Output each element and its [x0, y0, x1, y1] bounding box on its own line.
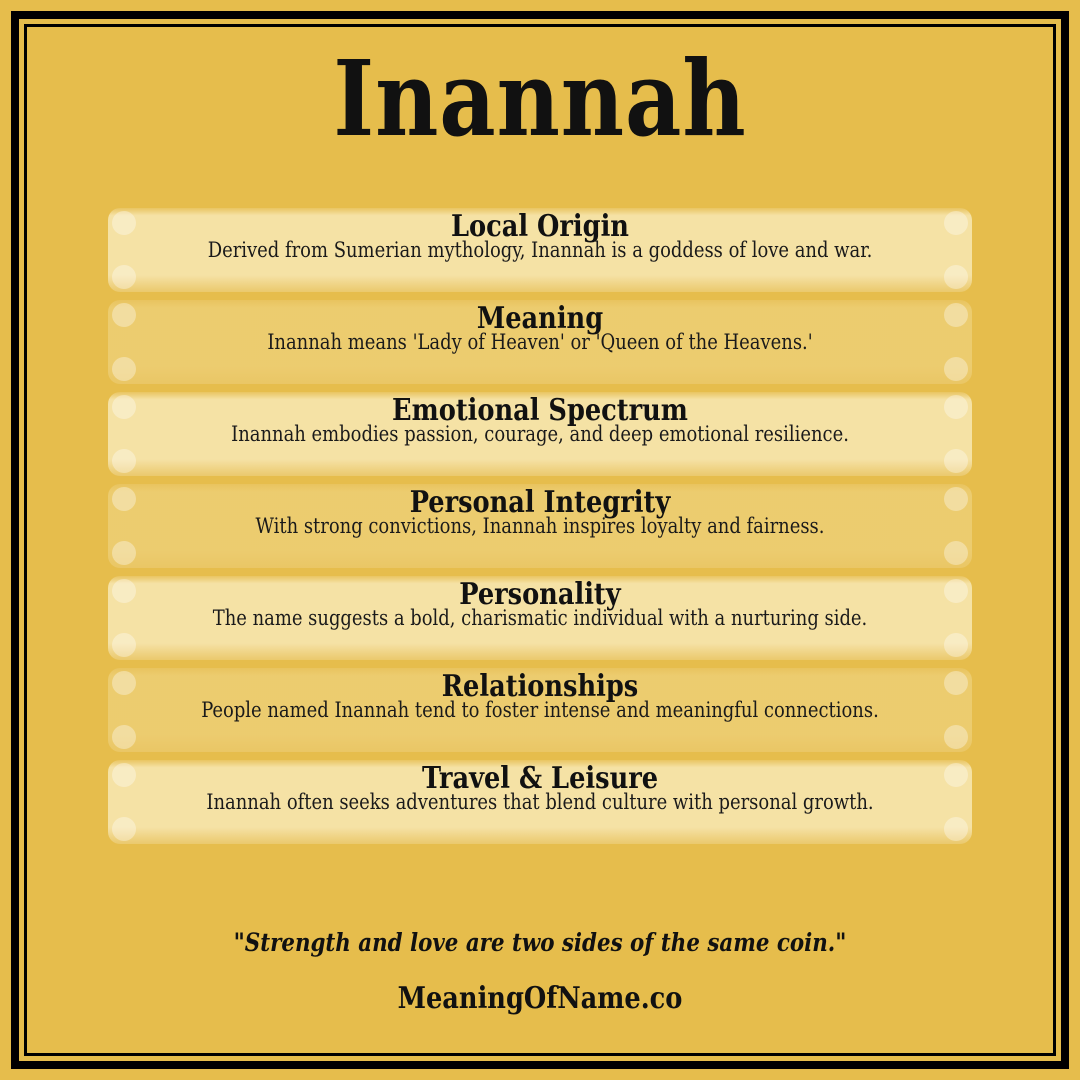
footer-quote: "Strength and love are two sides of the … — [56, 928, 1025, 957]
card-notch-bl-icon — [112, 725, 136, 749]
card-notch-br-icon — [944, 817, 968, 841]
section-card-body: Local OriginDerived from Sumerian mythol… — [108, 208, 972, 261]
brand-name: MeaningOfName.co — [56, 981, 1025, 1016]
section-card: RelationshipsPeople named Inannah tend t… — [108, 668, 972, 752]
section-card: PersonalityThe name suggests a bold, cha… — [108, 576, 972, 660]
section-description: Derived from Sumerian mythology, Inannah… — [130, 240, 951, 261]
section-card-body: Travel & LeisureInannah often seeks adve… — [108, 760, 972, 813]
section-card-body: RelationshipsPeople named Inannah tend t… — [108, 668, 972, 721]
card-notch-br-icon — [944, 449, 968, 473]
section-card: Emotional SpectrumInannah embodies passi… — [108, 392, 972, 476]
page-title: Inannah — [66, 44, 1015, 153]
card-notch-bl-icon — [112, 449, 136, 473]
name-meaning-poster: Inannah Local OriginDerived from Sumeria… — [0, 0, 1080, 1080]
section-card: Personal IntegrityWith strong conviction… — [108, 484, 972, 568]
card-notch-bl-icon — [112, 541, 136, 565]
section-card-body: PersonalityThe name suggests a bold, cha… — [108, 576, 972, 629]
card-notch-bl-icon — [112, 817, 136, 841]
poster-footer: "Strength and love are two sides of the … — [30, 928, 1050, 1016]
card-notch-br-icon — [944, 633, 968, 657]
section-card: Travel & LeisureInannah often seeks adve… — [108, 760, 972, 844]
section-description: Inannah often seeks adventures that blen… — [130, 792, 951, 813]
section-card: MeaningInannah means 'Lady of Heaven' or… — [108, 300, 972, 384]
section-card: Local OriginDerived from Sumerian mythol… — [108, 208, 972, 292]
section-description: People named Inannah tend to foster inte… — [130, 700, 951, 721]
card-notch-br-icon — [944, 541, 968, 565]
section-card-body: Personal IntegrityWith strong conviction… — [108, 484, 972, 537]
section-description: Inannah means 'Lady of Heaven' or 'Queen… — [130, 332, 951, 353]
sections-list: Local OriginDerived from Sumerian mythol… — [108, 208, 972, 852]
section-description: With strong convictions, Inannah inspire… — [130, 516, 951, 537]
section-card-body: Emotional SpectrumInannah embodies passi… — [108, 392, 972, 445]
poster-content: Inannah Local OriginDerived from Sumeria… — [30, 30, 1050, 1050]
card-notch-br-icon — [944, 265, 968, 289]
section-description: The name suggests a bold, charismatic in… — [130, 608, 951, 629]
card-notch-br-icon — [944, 725, 968, 749]
card-notch-bl-icon — [112, 357, 136, 381]
card-notch-bl-icon — [112, 633, 136, 657]
section-card-body: MeaningInannah means 'Lady of Heaven' or… — [108, 300, 972, 353]
card-notch-br-icon — [944, 357, 968, 381]
card-notch-bl-icon — [112, 265, 136, 289]
section-description: Inannah embodies passion, courage, and d… — [130, 424, 951, 445]
